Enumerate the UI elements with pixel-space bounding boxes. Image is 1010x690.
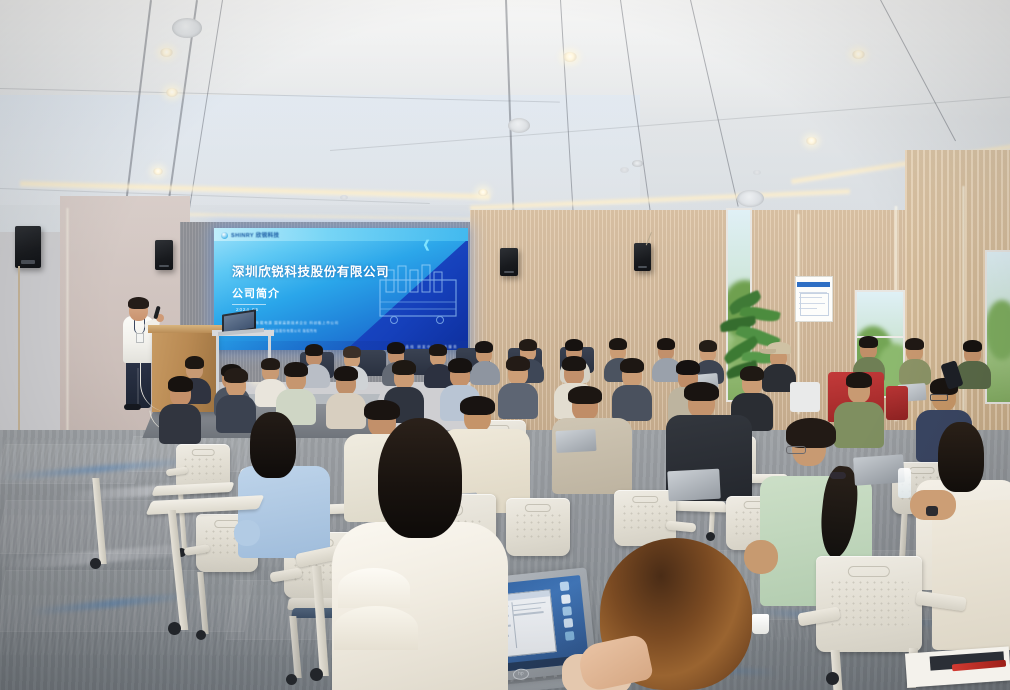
chevron-left-icon: ❰ — [422, 240, 438, 251]
ceiling-speaker — [508, 118, 530, 133]
smoke-detector — [632, 160, 643, 167]
ceiling-downlight — [806, 137, 817, 145]
wall-speaker-right — [634, 243, 651, 271]
ceiling-downlight-off — [753, 170, 761, 175]
blouse-ruffle — [338, 568, 410, 608]
chair-handle — [848, 566, 890, 578]
wall-poster — [795, 276, 833, 322]
chair-back — [506, 498, 570, 556]
water-bottle — [898, 468, 911, 498]
chair-perforation — [829, 579, 910, 629]
poster-header-bar — [797, 282, 829, 286]
presenter-hair — [128, 297, 149, 309]
ceiling-downlight — [852, 50, 865, 59]
chair-perforation — [621, 503, 668, 532]
laptop — [555, 429, 596, 453]
paper-cup — [752, 614, 769, 634]
hair-tie — [830, 472, 846, 479]
laptop — [667, 469, 720, 502]
chair-handle — [525, 504, 551, 512]
wall-speaker-centre — [500, 248, 518, 276]
ceiling-downlight — [478, 189, 488, 196]
glasses-icon — [786, 446, 806, 454]
ceiling-downlight-off — [340, 195, 348, 200]
conference-room-photo: SHINRY 欣锐科技 ❰ 深圳欣锐科技股份有限公司 公司简介 2024.05 … — [0, 0, 1010, 690]
blouse-ruffle — [334, 606, 418, 650]
chair-back — [816, 556, 922, 652]
chair-perforation — [514, 512, 563, 542]
ceiling-downlight-off — [620, 167, 629, 173]
ceiling-speaker — [737, 190, 764, 207]
chair-handle — [632, 496, 658, 504]
ceiling-downlight — [563, 52, 577, 62]
wristwatch — [926, 506, 938, 516]
